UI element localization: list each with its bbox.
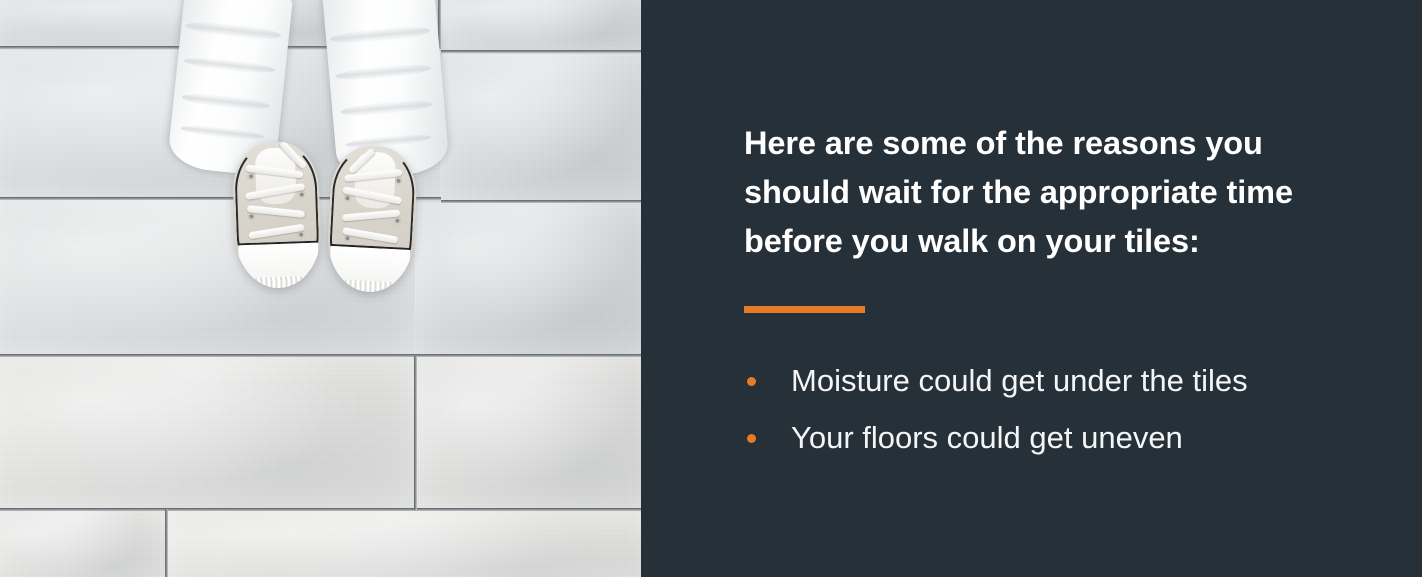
grout-line-vertical	[414, 356, 417, 510]
promo-banner: Here are some of the reasons you should …	[0, 0, 1422, 577]
fabric-fold	[185, 19, 282, 42]
fabric-fold	[180, 123, 265, 142]
floor-tile	[0, 356, 415, 511]
list-item: Moisture could get under the tiles	[744, 352, 1404, 409]
tile-grain	[415, 202, 641, 358]
floor-tile	[415, 356, 641, 511]
list-item: Your floors could get uneven	[744, 409, 1404, 466]
tile-grain	[440, 0, 641, 54]
tile-grain	[415, 356, 641, 511]
tile-grain	[0, 356, 415, 511]
floor-tile	[440, 0, 641, 54]
sneaker-right	[325, 144, 419, 294]
content-panel: Here are some of the reasons you should …	[641, 0, 1422, 577]
bullet-dot-icon	[747, 434, 756, 443]
grout-line-horizontal	[0, 508, 641, 511]
tile-grain	[0, 509, 165, 577]
list-item-label: Moisture could get under the tiles	[791, 363, 1248, 398]
grout-line-horizontal	[0, 354, 641, 357]
floor-tile	[440, 54, 641, 202]
grout-line-horizontal	[441, 200, 641, 203]
list-item-label: Your floors could get uneven	[791, 420, 1183, 455]
grout-line-horizontal	[441, 50, 641, 53]
bullet-dot-icon	[747, 377, 756, 386]
tiled-floor-photo	[0, 0, 641, 577]
accent-divider	[744, 306, 865, 313]
panel-heading: Here are some of the reasons you should …	[744, 119, 1364, 266]
fabric-fold	[340, 98, 433, 118]
floor-tile	[0, 509, 165, 577]
fabric-fold	[330, 24, 431, 46]
fabric-fold	[335, 62, 432, 82]
fabric-fold	[183, 55, 276, 76]
floor-tile	[165, 511, 641, 577]
fabric-fold	[181, 91, 270, 112]
tile-grain	[165, 511, 641, 577]
grout-line-vertical	[165, 509, 168, 577]
sneaker-left	[231, 141, 322, 290]
floor-tile	[415, 202, 641, 358]
tile-grain	[440, 54, 641, 202]
reasons-list: Moisture could get under the tiles Your …	[744, 352, 1404, 466]
